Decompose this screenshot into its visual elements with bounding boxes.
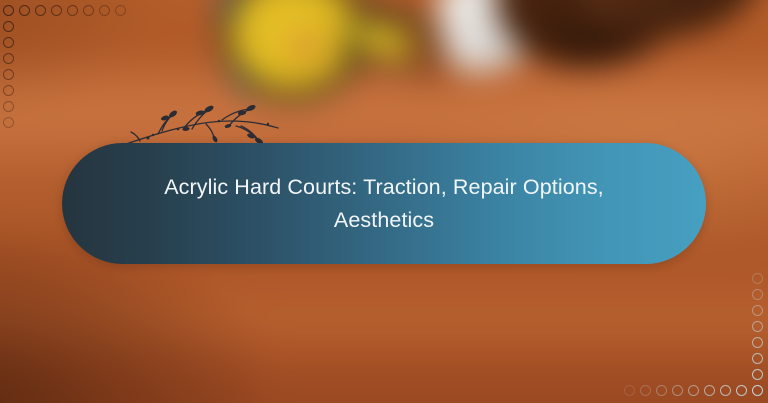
decor-dot	[3, 21, 14, 32]
decor-dot	[752, 337, 763, 348]
decor-dot	[688, 385, 699, 396]
decor-dot	[83, 5, 94, 16]
title-card: Acrylic Hard Courts: Traction, Repair Op…	[0, 0, 768, 403]
decor-dot	[3, 101, 14, 112]
decor-dot	[3, 37, 14, 48]
decor-dot	[752, 369, 763, 380]
decor-dot	[99, 5, 110, 16]
decor-dot	[51, 5, 62, 16]
decor-dot	[3, 69, 14, 80]
page-title: Acrylic Hard Courts: Traction, Repair Op…	[100, 171, 668, 236]
decor-dot	[115, 5, 126, 16]
decor-dot	[19, 5, 30, 16]
decor-dot	[672, 385, 683, 396]
decor-dot	[640, 385, 651, 396]
decor-dot	[624, 385, 635, 396]
decor-dot	[752, 321, 763, 332]
racket-stringbed-highlight	[291, 35, 319, 58]
dot-grid-top-left	[0, 0, 128, 128]
decor-dot	[3, 117, 14, 128]
decor-dot	[3, 53, 14, 64]
decor-dot	[752, 353, 763, 364]
decor-dot	[752, 289, 763, 300]
title-banner: Acrylic Hard Courts: Traction, Repair Op…	[62, 143, 706, 264]
decor-dot	[35, 5, 46, 16]
decor-dot	[720, 385, 731, 396]
decor-dot	[752, 305, 763, 316]
decor-dot	[752, 385, 763, 396]
decor-dot	[752, 273, 763, 284]
dot-grid-bottom-right	[622, 273, 766, 401]
decor-dot	[656, 385, 667, 396]
decor-dot	[3, 85, 14, 96]
decor-dot	[3, 5, 14, 16]
decor-dot	[704, 385, 715, 396]
decor-dot	[736, 385, 747, 396]
decor-dot	[67, 5, 78, 16]
